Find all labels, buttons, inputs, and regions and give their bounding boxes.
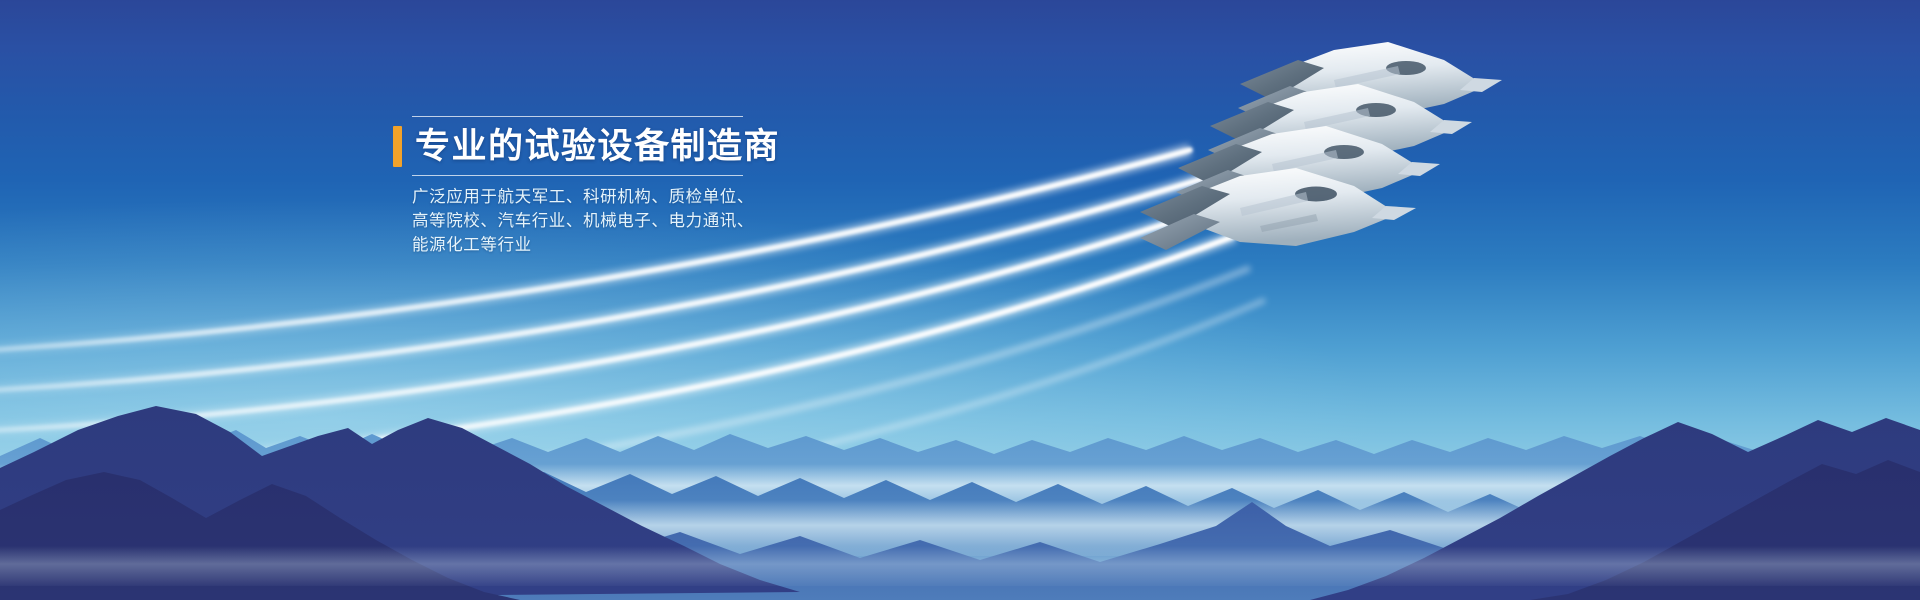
hero-copy: 专业的试验设备制造商 广泛应用于航天军工、科研机构、质检单位、 高等院校、汽车行… [393, 116, 753, 257]
subtitle-line-2: 高等院校、汽车行业、机械电子、电力通讯、 [412, 209, 753, 233]
accent-bar-icon [393, 126, 402, 167]
page-title: 专业的试验设备制造商 [415, 129, 780, 164]
mountain-range [0, 360, 1920, 600]
subtitle-block: 广泛应用于航天军工、科研机构、质检单位、 高等院校、汽车行业、机械电子、电力通讯… [412, 185, 753, 257]
mist-band-lower [0, 546, 1920, 586]
hero-banner: 专业的试验设备制造商 广泛应用于航天军工、科研机构、质检单位、 高等院校、汽车行… [0, 0, 1920, 600]
jet-formation [1130, 40, 1510, 270]
headline-row: 专业的试验设备制造商 [393, 117, 753, 175]
subtitle-line-3: 能源化工等行业 [412, 233, 753, 257]
headline-rule-bottom [412, 175, 743, 176]
subtitle-line-1: 广泛应用于航天军工、科研机构、质检单位、 [412, 185, 753, 209]
